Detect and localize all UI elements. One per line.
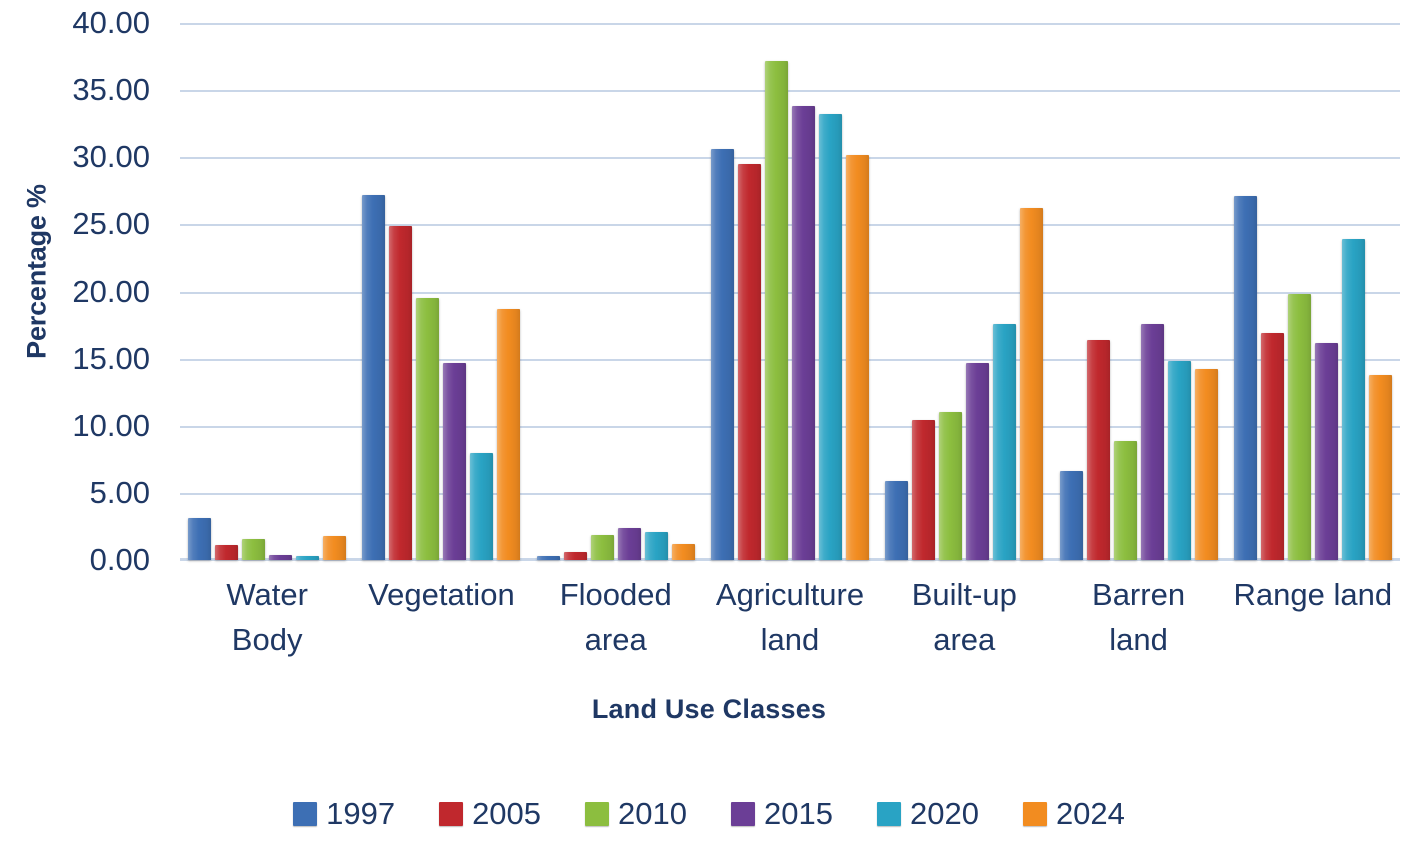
bar[interactable] <box>966 363 989 560</box>
bar-group <box>354 23 528 560</box>
bar[interactable] <box>792 106 815 560</box>
legend-item[interactable]: 2005 <box>439 798 541 829</box>
legend-swatch <box>1023 802 1047 826</box>
legend-swatch <box>293 802 317 826</box>
bar[interactable] <box>537 556 560 560</box>
legend: 199720052010201520202024 <box>0 798 1418 829</box>
bar[interactable] <box>242 539 265 560</box>
bar[interactable] <box>939 412 962 560</box>
x-axis-tick-label-line: land <box>1051 617 1225 662</box>
bar[interactable] <box>645 532 668 560</box>
x-axis-tick-label-line: Barren <box>1051 572 1225 617</box>
y-axis-tick-label: 5.00 <box>0 475 150 511</box>
legend-label: 1997 <box>326 798 395 829</box>
x-axis-tick-label-line: area <box>877 617 1051 662</box>
plot-area <box>180 23 1400 560</box>
bar-group <box>1226 23 1400 560</box>
legend-label: 2020 <box>910 798 979 829</box>
x-axis-tick-label-line: land <box>703 617 877 662</box>
y-axis-tick-label: 25.00 <box>0 206 150 242</box>
bar[interactable] <box>1087 340 1110 560</box>
bar[interactable] <box>269 555 292 560</box>
x-axis-tick-label-line: Water <box>180 572 354 617</box>
x-axis-tick-label: Vegetation <box>354 572 528 682</box>
legend-item[interactable]: 1997 <box>293 798 395 829</box>
bar[interactable] <box>416 298 439 560</box>
y-axis-tick-label: 0.00 <box>0 542 150 578</box>
bar-group <box>529 23 703 560</box>
x-axis-tick-label-line: area <box>529 617 703 662</box>
bar[interactable] <box>885 481 908 560</box>
legend-item[interactable]: 2024 <box>1023 798 1125 829</box>
bar-group <box>1051 23 1225 560</box>
bar[interactable] <box>1060 471 1083 560</box>
bar[interactable] <box>362 195 385 560</box>
bar[interactable] <box>1261 333 1284 560</box>
y-axis-tick-label: 35.00 <box>0 72 150 108</box>
x-axis-tick-label: Floodedarea <box>529 572 703 682</box>
y-axis-tick-label: 15.00 <box>0 341 150 377</box>
bar[interactable] <box>296 556 319 560</box>
bar-group <box>180 23 354 560</box>
x-axis-tick-label: Barrenland <box>1051 572 1225 682</box>
bar-groups <box>180 23 1400 560</box>
bar[interactable] <box>443 363 466 560</box>
bar[interactable] <box>389 226 412 560</box>
bar[interactable] <box>470 453 493 560</box>
bar[interactable] <box>1168 361 1191 560</box>
y-axis-tick-labels: 40.0035.0030.0025.0020.0015.0010.005.000… <box>0 0 150 600</box>
bar[interactable] <box>618 528 641 560</box>
legend-item[interactable]: 2010 <box>585 798 687 829</box>
legend-swatch <box>877 802 901 826</box>
x-axis-tick-label-line: Agriculture <box>703 572 877 617</box>
x-axis-tick-label-line: Vegetation <box>354 572 528 617</box>
bar[interactable] <box>323 536 346 560</box>
legend-swatch <box>585 802 609 826</box>
legend-item[interactable]: 2020 <box>877 798 979 829</box>
bar[interactable] <box>819 114 842 560</box>
bar[interactable] <box>188 518 211 560</box>
y-axis-tick-label: 10.00 <box>0 408 150 444</box>
legend-label: 2024 <box>1056 798 1125 829</box>
x-axis-tick-label: Range land <box>1226 572 1400 682</box>
legend-label: 2015 <box>764 798 833 829</box>
legend-label: 2010 <box>618 798 687 829</box>
bar[interactable] <box>1369 375 1392 560</box>
x-axis-tick-label: Built-uparea <box>877 572 1051 682</box>
bar[interactable] <box>846 155 869 560</box>
bar-group <box>703 23 877 560</box>
bar-group <box>877 23 1051 560</box>
x-axis-tick-label-line: Body <box>180 617 354 662</box>
x-axis-title: Land Use Classes <box>0 694 1418 725</box>
bar[interactable] <box>1020 208 1043 560</box>
y-axis-tick-label: 20.00 <box>0 274 150 310</box>
bar[interactable] <box>765 61 788 560</box>
bar[interactable] <box>912 420 935 560</box>
legend-swatch <box>439 802 463 826</box>
bar[interactable] <box>1342 239 1365 560</box>
bar[interactable] <box>672 544 695 560</box>
bar[interactable] <box>1288 294 1311 560</box>
bar[interactable] <box>564 552 587 560</box>
bar[interactable] <box>993 324 1016 560</box>
bar[interactable] <box>711 149 734 560</box>
bar[interactable] <box>1315 343 1338 560</box>
bar-chart: Percentage % 40.0035.0030.0025.0020.0015… <box>0 0 1418 844</box>
legend-label: 2005 <box>472 798 541 829</box>
x-axis-tick-label-line: Range land <box>1226 572 1400 617</box>
bar[interactable] <box>591 535 614 561</box>
x-axis-tick-labels: WaterBodyVegetationFloodedareaAgricultur… <box>180 572 1400 682</box>
legend-swatch <box>731 802 755 826</box>
x-axis-tick-label-line: Flooded <box>529 572 703 617</box>
bar[interactable] <box>215 545 238 560</box>
bar[interactable] <box>497 309 520 560</box>
bar[interactable] <box>738 164 761 560</box>
x-axis-tick-label: Agricultureland <box>703 572 877 682</box>
legend-item[interactable]: 2015 <box>731 798 833 829</box>
bar[interactable] <box>1141 324 1164 560</box>
bar[interactable] <box>1114 441 1137 560</box>
y-axis-tick-label: 30.00 <box>0 139 150 175</box>
y-axis-tick-label: 40.00 <box>0 5 150 41</box>
bar[interactable] <box>1195 369 1218 560</box>
x-axis-tick-label: WaterBody <box>180 572 354 682</box>
bar[interactable] <box>1234 196 1257 560</box>
x-axis-tick-label-line: Built-up <box>877 572 1051 617</box>
